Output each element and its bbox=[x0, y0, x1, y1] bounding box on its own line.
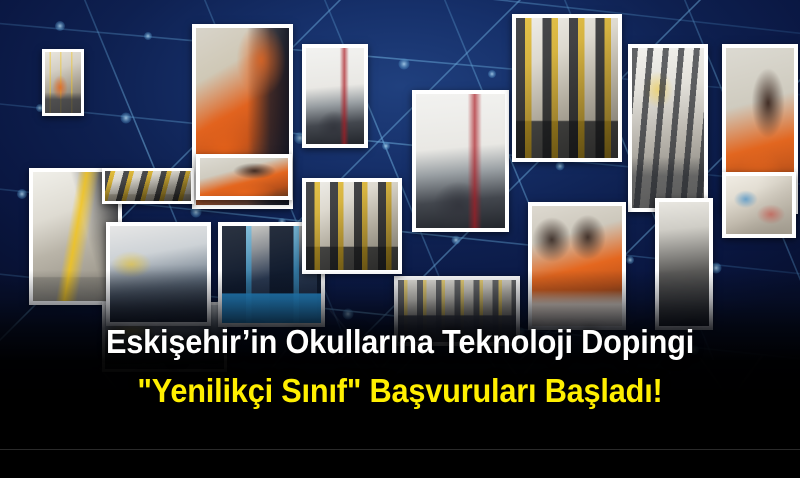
collage-photo-student-hand-on-mouse bbox=[196, 154, 292, 200]
collage-photo-computer-row-yellow-chairs bbox=[102, 168, 194, 204]
collage-photo-students-at-desks-small bbox=[42, 49, 84, 116]
headline-block: Eskişehir’in Okullarına Teknoloji Doping… bbox=[0, 322, 800, 411]
news-banner: Eskişehir’in Okullarına Teknoloji Doping… bbox=[0, 0, 800, 478]
headline-line-1: Eskişehir’in Okullarına Teknoloji Doping… bbox=[28, 322, 772, 362]
collage-photo-empty-classroom-desks-chairs bbox=[628, 44, 708, 212]
collage-photo-workshop-participants-laptops bbox=[302, 44, 368, 148]
collage-photo-presentation-group-standing bbox=[412, 90, 509, 232]
collage-photo-classroom-storage-cabinets bbox=[302, 178, 402, 274]
collage-photo-hands-on-electronics-kit bbox=[722, 172, 796, 238]
headline-line-2: "Yenilikçi Sınıf" Başvuruları Başladı! bbox=[28, 371, 772, 411]
collage-photo-classroom-lockers-yellow-black bbox=[512, 14, 622, 162]
bottom-divider bbox=[0, 449, 800, 450]
